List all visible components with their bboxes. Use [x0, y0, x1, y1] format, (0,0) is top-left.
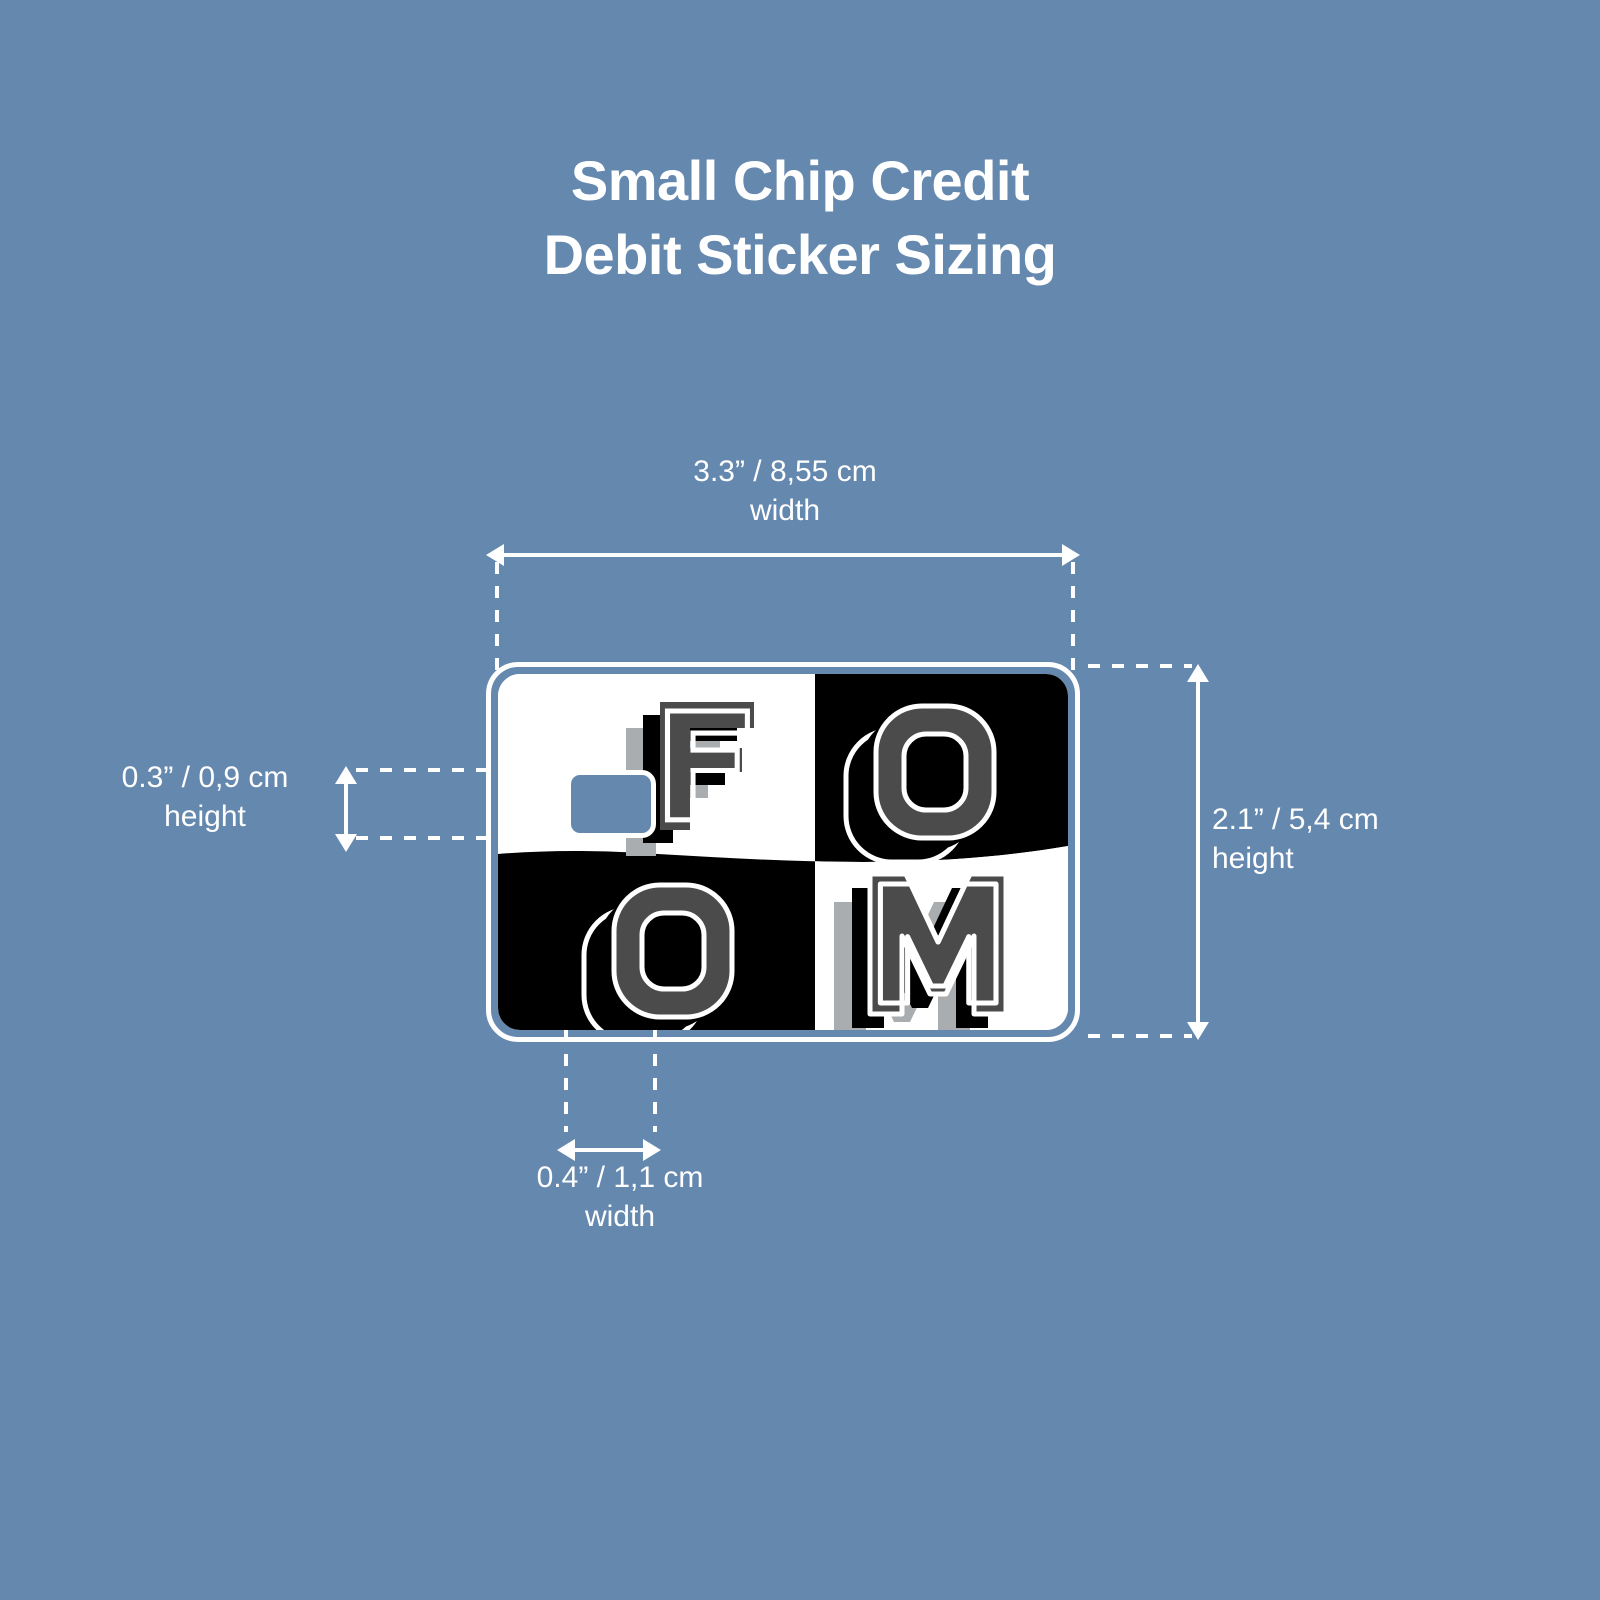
chip-height-value: 0.3” / 0,9 cm — [122, 761, 289, 794]
chip-height-label: 0.3” / 0,9 cm height — [60, 758, 350, 836]
chip-width-label: 0.4” / 1,1 cm width — [420, 1158, 820, 1236]
chip-width-arrow-right — [643, 1139, 661, 1161]
chip-height-measure-line — [344, 783, 348, 835]
chip-height-arrow-up — [335, 766, 357, 784]
card-width-measure-line — [504, 553, 1062, 557]
card-height-unit: height — [1212, 842, 1294, 875]
chip-width-arrow-left — [557, 1139, 575, 1161]
card-height-value: 2.1” / 5,4 cm — [1212, 803, 1379, 836]
card-height-label: 2.1” / 5,4 cm height — [1212, 800, 1542, 878]
chip-width-value: 0.4” / 1,1 cm — [537, 1161, 704, 1194]
card-width-unit: width — [750, 494, 820, 527]
chip-height-arrow-down — [335, 834, 357, 852]
card-width-extension-right — [1071, 562, 1075, 670]
chip-width-measure-line — [575, 1148, 643, 1152]
page-title: Small Chip Credit Debit Sticker Sizing — [0, 144, 1600, 292]
card-width-extension-left — [495, 562, 499, 670]
card-artwork — [498, 674, 1068, 1030]
card-height-extension-bottom — [1088, 1034, 1192, 1038]
card-width-value: 3.3” / 8,55 cm — [693, 455, 876, 488]
card-width-label: 3.3” / 8,55 cm width — [560, 452, 1010, 530]
chip-width-unit: width — [585, 1200, 655, 1233]
letter-m — [834, 874, 1006, 1030]
chip-height-unit: height — [164, 800, 246, 833]
chip-sticker — [566, 770, 656, 838]
card-height-extension-top — [1088, 664, 1192, 668]
sizing-diagram: Small Chip Credit Debit Sticker Sizing 3… — [0, 0, 1600, 1600]
credit-card-sticker — [498, 674, 1068, 1030]
card-height-measure-line — [1196, 681, 1200, 1023]
